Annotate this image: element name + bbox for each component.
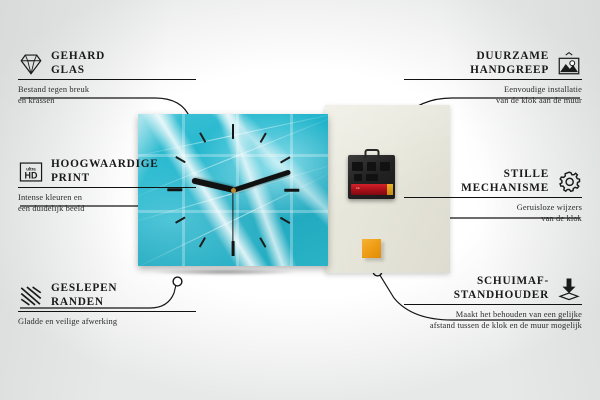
feature-sub-line1: Gladde en veilige afwerking — [18, 317, 117, 326]
feature-title-line2: GLAS — [51, 64, 85, 78]
feature-sub-line2: een duidelijk beeld — [18, 204, 85, 213]
quartz-movement: AA — [348, 155, 395, 199]
feature-sub-line1: Bestand tegen breuk — [18, 85, 89, 94]
feature-sub-line2: afstand tussen de klok en de muur mogeli… — [430, 321, 582, 330]
feature-sub-line1: Eenvoudige installatie — [504, 85, 582, 94]
feature-title-line2: MECHANISME — [461, 182, 549, 196]
feature-title-line1: DUURZAME — [476, 50, 549, 64]
clock-hub — [231, 188, 236, 193]
feature-duurzame-handgreep: DUURZAME HANDGREEP Eenvoudige installati… — [404, 50, 582, 106]
divider — [18, 311, 196, 312]
divider — [18, 79, 196, 80]
feature-title-line1: GESLEPEN — [51, 282, 117, 296]
aa-battery: AA — [351, 184, 392, 195]
hanger-bracket-icon — [364, 149, 379, 158]
battery-label: AA — [356, 187, 360, 190]
feature-sub-line1: Intense kleuren en — [18, 193, 82, 202]
divider — [404, 304, 582, 305]
feature-sub-line2: van de klok aan de muur — [496, 96, 582, 105]
feature-schuimafstandhouder: SCHUIMAF- STANDHOUDER Maakt het behouden… — [404, 275, 582, 331]
divider — [404, 79, 582, 80]
feature-title-line2: HANDGREEP — [470, 64, 549, 78]
feature-title-line2: STANDHOUDER — [454, 289, 549, 303]
battery-terminal — [387, 184, 393, 195]
feature-title-line1: STILLE — [504, 168, 549, 182]
diamond-icon — [18, 51, 44, 77]
diagonal-hatch-icon — [18, 283, 44, 309]
foam-spacer — [362, 239, 381, 258]
gear-icon — [556, 169, 582, 195]
feature-sub-line1: Maakt het behouden van een gelijke — [456, 310, 582, 319]
feature-hoogwaardige-print: ultra HD HOOGWAARDIGE PRINT Intense kleu… — [18, 158, 196, 214]
feature-sub-line2: en krassen — [18, 96, 55, 105]
arrow-down-spacer-icon — [556, 276, 582, 302]
feature-title-line1: HOOGWAARDIGE — [51, 158, 159, 172]
picture-frame-icon — [556, 51, 582, 77]
feature-sub-line2: van de klok — [541, 214, 582, 223]
feature-title-line1: GEHARD — [51, 50, 105, 64]
feature-geslepen-randen: GESLEPEN RANDEN Gladde en veilige afwerk… — [18, 282, 196, 327]
feature-gehard-glas: GEHARD GLAS Bestand tegen breuk en krass… — [18, 50, 196, 106]
product-shadow — [132, 268, 337, 277]
feature-title-line2: PRINT — [51, 172, 90, 186]
feature-title-line2: RANDEN — [51, 296, 104, 310]
feature-sub-line1: Geruisloze wijzers — [517, 203, 582, 212]
feature-title-line1: SCHUIMAF- — [477, 275, 549, 289]
divider — [18, 187, 196, 188]
feature-stille-mechanisme: STILLE MECHANISME Geruisloze wijzers van… — [404, 168, 582, 224]
divider — [404, 197, 582, 198]
ultra-hd-large-text: HD — [25, 170, 38, 180]
ultra-hd-icon: ultra HD — [18, 159, 44, 185]
